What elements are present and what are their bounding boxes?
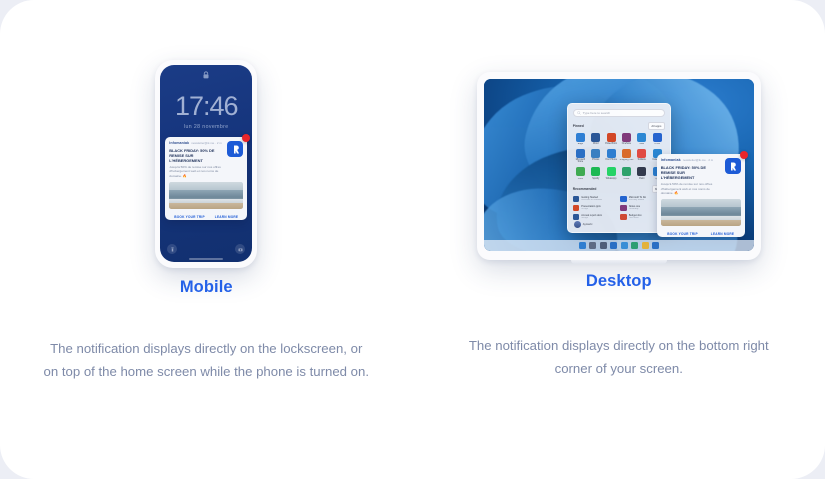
- device-columns: 17:46 lun 28 novembre Infomaniak newslet…: [0, 0, 825, 479]
- lockscreen-date: lun 28 novembre: [160, 124, 252, 130]
- file-icon: [573, 196, 580, 203]
- desktop-screen: Type here to search Pinned All apps Edge…: [484, 79, 754, 251]
- pinned-app-paint[interactable]: Paint: [634, 167, 649, 180]
- start-menu-user[interactable]: Aymeric: [574, 221, 593, 228]
- avatar: [574, 221, 581, 228]
- notification-app-logo: [725, 158, 741, 174]
- notification-meta: newsletter@ik.me · 2 m: [191, 141, 221, 145]
- recommended-item-text: Getting StartedWelcome to Windows: [581, 196, 602, 201]
- file-icon: [573, 205, 580, 212]
- recommended-item[interactable]: Annual report.docx3d ago: [573, 214, 618, 221]
- file-icon: [620, 205, 627, 212]
- notification-primary-action[interactable]: BOOK YOUR TRIP: [174, 215, 205, 219]
- notification-image: [661, 199, 741, 226]
- desktop-notification-wrapper[interactable]: Infomaniak newsletter@ik.me · 2 m BLACK …: [657, 154, 745, 237]
- pinned-section-header: Pinned All apps: [573, 122, 665, 130]
- camera-button[interactable]: [235, 244, 245, 254]
- mobile-column: 17:46 lun 28 novembre Infomaniak newslet…: [0, 0, 413, 479]
- pinned-label: Pinned: [573, 124, 584, 128]
- mobile-label: Mobile: [0, 278, 413, 297]
- camera-icon: [238, 247, 243, 252]
- app-icon: [622, 149, 631, 158]
- pinned-app-your-phone[interactable]: Your Phone: [603, 149, 618, 164]
- notification-primary-action[interactable]: BOOK YOUR TRIP: [667, 232, 698, 236]
- notification-body-text: Jusqu'à 50% de remise sur nos offres d'h…: [661, 182, 713, 195]
- desktop-label: Desktop: [413, 272, 825, 291]
- app-label: Spotify: [592, 178, 599, 180]
- edge-icon[interactable]: [631, 242, 638, 249]
- search-icon[interactable]: [589, 242, 596, 249]
- app-icon: [576, 167, 585, 176]
- pinned-app-photos[interactable]: Photos: [588, 149, 603, 164]
- infomaniak-logo-icon: [231, 144, 240, 155]
- pinned-app-to-do[interactable]: To Do: [649, 133, 664, 146]
- search-icon: [577, 111, 581, 115]
- explorer-icon[interactable]: [642, 242, 649, 249]
- recommended-item-text: Annual report.docx3d ago: [581, 214, 602, 219]
- app-label: Xbox: [578, 178, 583, 180]
- start-icon[interactable]: [579, 242, 586, 249]
- pinned-app-snipping-tool[interactable]: Snipping Tool: [619, 149, 634, 164]
- notification-secondary-action[interactable]: LEARN MORE: [215, 215, 238, 219]
- notification-content: Infomaniak newsletter@ik.me · 2 m BLACK …: [165, 137, 247, 212]
- app-label: Snipping Tool: [620, 159, 634, 161]
- file-icon: [620, 196, 627, 203]
- mobile-notification-wrapper[interactable]: Infomaniak newsletter@ik.me · 2 m BLACK …: [165, 137, 247, 220]
- app-icon: [591, 133, 600, 142]
- recommended-grid: Getting StartedWelcome to WindowsMicroso…: [573, 196, 665, 221]
- flame-emoji-icon: 🔥: [183, 174, 187, 178]
- recommended-section: Recommended More Getting StartedWelcome …: [573, 185, 665, 220]
- flashlight-button[interactable]: [167, 244, 177, 254]
- pinned-app-whatsapp[interactable]: WhatsApp: [603, 167, 618, 180]
- pinned-apps-grid: EdgeWordPowerPointOneNoteMailTo DoMicros…: [573, 133, 665, 180]
- notification-content: Infomaniak newsletter@ik.me · 2 m BLACK …: [657, 154, 745, 229]
- chat-icon[interactable]: [621, 242, 628, 249]
- recommended-section-header: Recommended More: [573, 185, 665, 193]
- flashlight-icon: [170, 247, 175, 252]
- app-label: OneNote: [622, 143, 631, 145]
- monitor-device-mockup: Type here to search Pinned All apps Edge…: [477, 72, 761, 264]
- pinned-app-onenote[interactable]: OneNote: [619, 133, 634, 146]
- start-menu[interactable]: Type here to search Pinned All apps Edge…: [567, 103, 671, 233]
- app-icon: [576, 133, 585, 142]
- task-view-icon[interactable]: [600, 242, 607, 249]
- app-label: PowerPoint: [605, 143, 617, 145]
- notification-brand: Infomaniak: [169, 141, 189, 145]
- desktop-caption: The notification displays directly on th…: [454, 335, 784, 380]
- recommended-item-text: Notes.oneYesterday: [629, 205, 640, 210]
- app-icon: [622, 167, 631, 176]
- app-icon: [637, 133, 646, 142]
- pinned-app-solitaire[interactable]: Solitaire: [634, 149, 649, 164]
- app-label: Microsoft Store: [573, 159, 588, 164]
- home-indicator: [189, 258, 223, 260]
- notification-secondary-action[interactable]: LEARN MORE: [711, 232, 734, 236]
- infomaniak-logo-icon: [728, 161, 737, 172]
- app-label: Paint: [639, 178, 644, 180]
- app-icon: [607, 149, 616, 158]
- notification-brand: Infomaniak: [661, 158, 681, 162]
- recommended-item-meta: 3d ago: [581, 217, 602, 219]
- pinned-app-edge[interactable]: Edge: [573, 133, 588, 146]
- app-label: Photos: [592, 159, 599, 161]
- phone-lockscreen: 17:46 lun 28 novembre Infomaniak newslet…: [160, 65, 252, 262]
- notification-app-logo: [227, 141, 243, 157]
- recommended-item-text: Budget.xlsxLast week: [629, 214, 642, 219]
- desktop-column: Type here to search Pinned All apps Edge…: [413, 0, 825, 479]
- recommended-item-meta: 2h ago: [581, 208, 600, 210]
- app-label: WhatsApp: [606, 178, 617, 180]
- phone-stage: 17:46 lun 28 novembre Infomaniak newslet…: [0, 60, 413, 268]
- pinned-app-clock[interactable]: Clock: [619, 167, 634, 180]
- app-label: Solitaire: [638, 159, 646, 161]
- notification-body-text: Jusqu'à 50% de remise sur nos offres d'h…: [169, 165, 221, 178]
- mobile-caption: The notification displays directly on th…: [41, 338, 371, 383]
- app-icon: [591, 167, 600, 176]
- app-label: Word: [593, 143, 598, 145]
- pinned-app-word[interactable]: Word: [588, 133, 603, 146]
- image-sand-band: [169, 203, 243, 209]
- phone-device-mockup: 17:46 lun 28 novembre Infomaniak newslet…: [155, 60, 257, 268]
- recommended-item-text: Microsoft To DoRecently added: [629, 196, 646, 201]
- notification-meta: newsletter@ik.me · 2 m: [683, 158, 713, 162]
- pinned-app-powerpoint[interactable]: PowerPoint: [603, 133, 618, 146]
- flame-emoji-icon: 🔥: [674, 191, 678, 195]
- recommended-item-meta: Welcome to Windows: [581, 199, 602, 201]
- app-label: Mail: [640, 143, 644, 145]
- notification-body: Jusqu'à 50% de remise sur nos offres d'h…: [661, 182, 741, 196]
- user-name: Aymeric: [583, 223, 593, 226]
- app-icon: [637, 167, 646, 176]
- pinned-app-microsoft-store[interactable]: Microsoft Store: [573, 149, 588, 164]
- notification-card[interactable]: Infomaniak newsletter@ik.me · 2 m BLACK …: [165, 137, 247, 220]
- app-icon: [653, 133, 662, 142]
- app-icon: [637, 149, 646, 158]
- recommended-item[interactable]: Presentation.pptx2h ago: [573, 205, 618, 212]
- file-icon: [620, 214, 627, 221]
- app-label: Clock: [624, 178, 630, 180]
- recommended-label: Recommended: [573, 187, 597, 191]
- pinned-app-spotify[interactable]: Spotify: [588, 167, 603, 180]
- page-root: 17:46 lun 28 novembre Infomaniak newslet…: [0, 0, 825, 479]
- all-apps-button[interactable]: All apps: [648, 122, 665, 130]
- notification-actions: BOOK YOUR TRIP LEARN MORE: [165, 212, 247, 220]
- image-sand-band: [661, 220, 741, 226]
- notification-body: Jusqu'à 50% de remise sur nos offres d'h…: [169, 165, 243, 179]
- file-icon: [573, 214, 580, 221]
- recommended-item-meta: Last week: [629, 217, 642, 219]
- pinned-app-mail[interactable]: Mail: [634, 133, 649, 146]
- store-icon[interactable]: [652, 242, 659, 249]
- app-icon: [576, 149, 585, 158]
- notification-image: [169, 182, 243, 209]
- taskbar: [484, 240, 754, 251]
- app-icon: [607, 133, 616, 142]
- recommended-item-meta: Yesterday: [629, 208, 640, 210]
- recommended-item-meta: Recently added: [629, 199, 646, 201]
- monitor-bezel: Type here to search Pinned All apps Edge…: [477, 72, 761, 260]
- app-icon: [607, 167, 616, 176]
- app-label: Your Phone: [605, 159, 617, 161]
- widgets-icon[interactable]: [610, 242, 617, 249]
- pinned-app-xbox[interactable]: Xbox: [573, 167, 588, 180]
- lockscreen-clock: 17:46: [160, 91, 252, 122]
- start-menu-search-input[interactable]: Type here to search: [573, 109, 665, 117]
- recommended-item-text: Presentation.pptx2h ago: [581, 205, 600, 210]
- notification-actions: BOOK YOUR TRIP LEARN MORE: [657, 229, 745, 237]
- recommended-item[interactable]: Getting StartedWelcome to Windows: [573, 196, 618, 203]
- desktop-stage: Type here to search Pinned All apps Edge…: [413, 68, 825, 264]
- lockscreen-quick-actions: [167, 244, 245, 254]
- app-label: Edge: [578, 143, 583, 145]
- search-placeholder-text: Type here to search: [583, 111, 610, 115]
- app-icon: [591, 149, 600, 158]
- app-label: To Do: [654, 143, 660, 145]
- app-icon: [622, 133, 631, 142]
- notification-card[interactable]: Infomaniak newsletter@ik.me · 2 m BLACK …: [657, 154, 745, 237]
- monitor-stand: [571, 260, 667, 264]
- lock-icon: [203, 71, 210, 79]
